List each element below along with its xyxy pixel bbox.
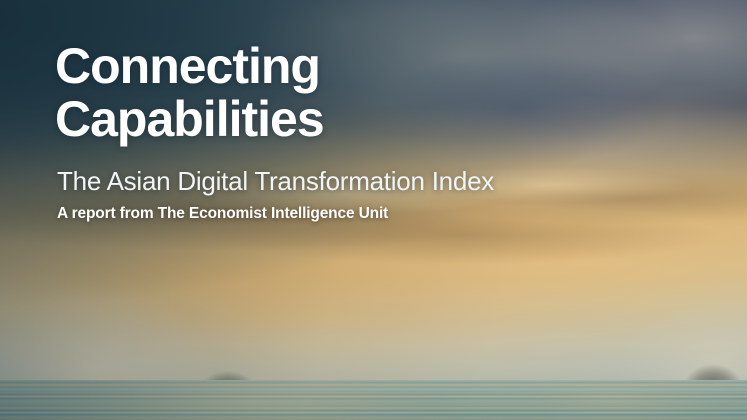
cover-byline: A report from The Economist Intelligence… xyxy=(57,205,615,223)
cover-text-block: Connecting Capabilities The Asian Digita… xyxy=(55,40,615,223)
water-band xyxy=(0,380,747,420)
water-specular-streaks xyxy=(0,380,747,420)
cover-subtitle: The Asian Digital Transformation Index xyxy=(57,166,615,196)
horizon-haze-layer xyxy=(0,277,747,386)
cover-title: Connecting Capabilities xyxy=(55,40,615,146)
report-cover: Connecting Capabilities The Asian Digita… xyxy=(0,0,747,420)
